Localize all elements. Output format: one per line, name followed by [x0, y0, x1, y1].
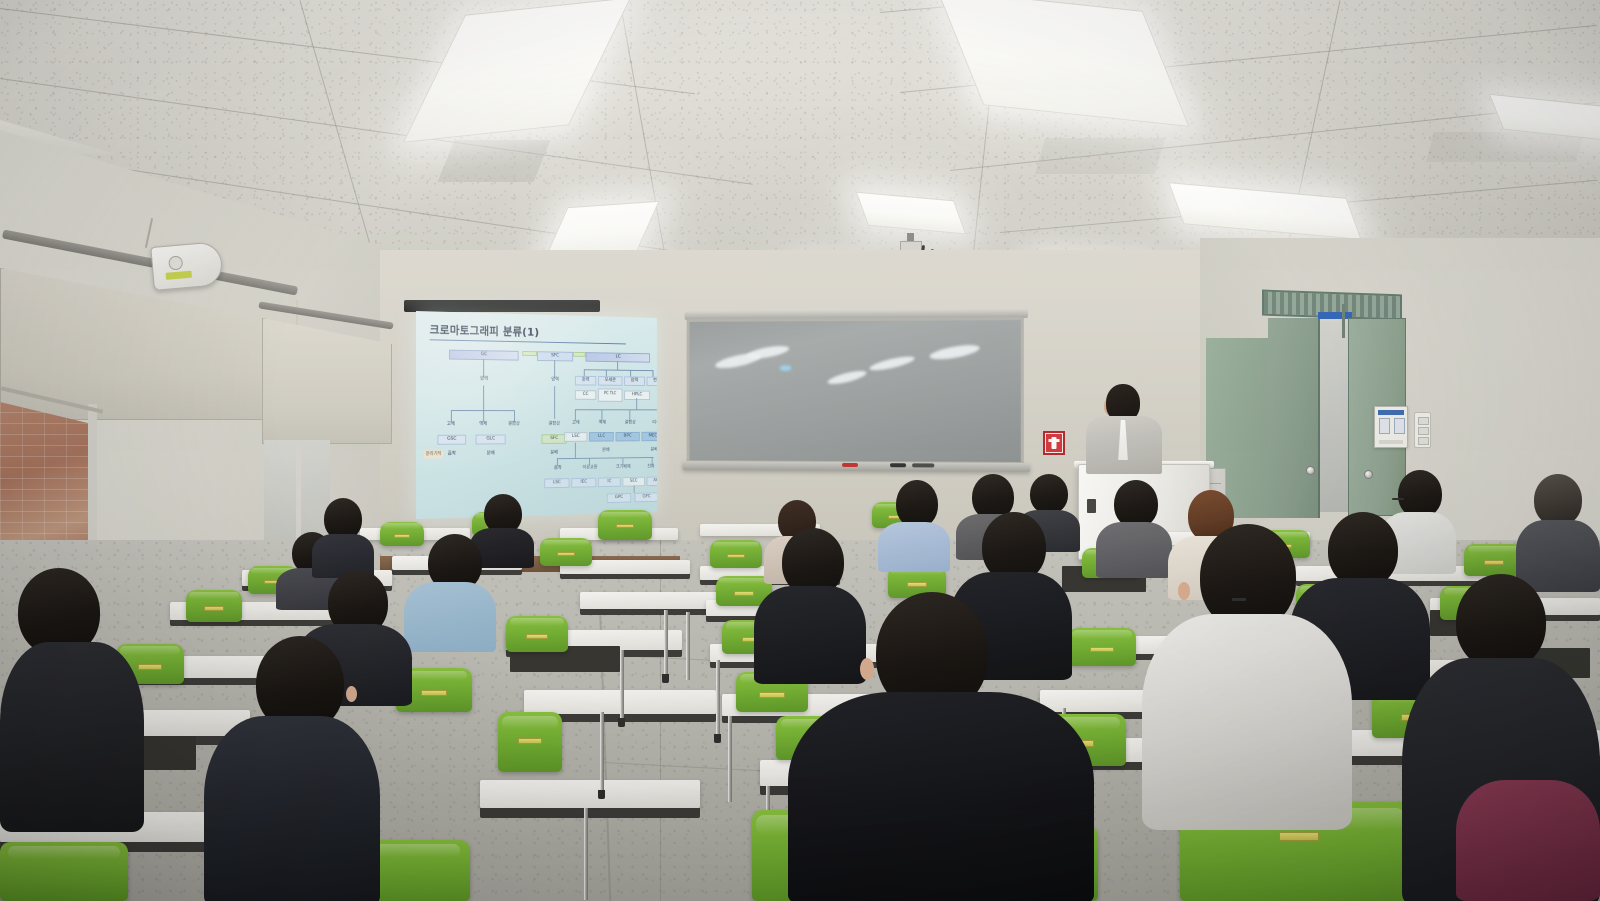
slide-node-lc-phase: 결합상: [617, 420, 643, 427]
slide-node-sub-mech: 친화: [641, 463, 656, 471]
slide-node-ac: AC: [647, 476, 657, 485]
slide-node-sub-mech: 이온교환: [575, 464, 605, 472]
door-closer-arm: [1342, 304, 1345, 338]
screen-housing: [404, 300, 600, 312]
slide-connector: [636, 398, 637, 409]
slide-node-lc-driver: 전기장: [647, 377, 657, 386]
chair[interactable]: [540, 538, 592, 566]
slide-node-bpc: BPC: [615, 432, 639, 441]
fire-extinguisher-sign: [1043, 431, 1065, 455]
slide-connector: [575, 443, 576, 458]
light-reflection: [827, 368, 868, 386]
light-switch[interactable]: [1418, 437, 1429, 445]
slide-node-gc-driver: 압력: [468, 376, 500, 384]
audience-member: [1142, 524, 1352, 824]
control-button[interactable]: [1379, 418, 1390, 434]
slide-node-mecc: MECC: [641, 432, 656, 441]
slide-connector: [575, 409, 657, 410]
desk: [480, 780, 700, 808]
ceiling-stain: [438, 140, 551, 182]
slide-side-label: 분리기작: [424, 450, 445, 459]
chair[interactable]: [506, 616, 568, 652]
audience-member: [0, 568, 144, 830]
slide-node-pc-tlc: PC TLC: [598, 388, 622, 401]
chair[interactable]: [1464, 544, 1524, 576]
door-opening: [1320, 322, 1348, 512]
audience-member: [1456, 780, 1600, 901]
slide-connector: [483, 386, 484, 412]
chair[interactable]: [186, 590, 242, 622]
slide-node-lc-phase: 고체: [566, 420, 586, 427]
door-frame-panel: [1268, 318, 1320, 518]
whiteboard: [687, 317, 1024, 465]
light-switch[interactable]: [1418, 427, 1429, 435]
desk-foot: [662, 674, 669, 683]
slide-node-gc-phase: 결합상: [500, 421, 528, 429]
desk-foot: [714, 734, 721, 743]
slide-node-llc: LLC: [589, 432, 614, 441]
slide-node-gc-phase: 액체: [472, 421, 495, 429]
slide-node-gsc: GSC: [437, 435, 466, 445]
slide-node-cc: CC: [575, 390, 596, 399]
slide-node-divider: [522, 351, 537, 356]
slide-node-gc-mech: 분배: [478, 450, 504, 458]
slide-node-divider: [573, 352, 585, 357]
slide-content: 크로마토그래피 분류(1) GC SFC LC 압력 고체 액체 결합상 GSC…: [416, 311, 657, 519]
instructor: [1084, 384, 1164, 474]
desk-leg: [728, 716, 732, 802]
slide-node-gfc: GFC: [635, 492, 657, 502]
slide-connector: [483, 359, 484, 377]
slide-node-lc-driver: 모세관: [598, 376, 622, 385]
slide-node-glc: GLC: [476, 434, 506, 444]
light-switch[interactable]: [1418, 417, 1429, 425]
slide-node-lc-phase: 미셀: [647, 420, 657, 427]
audience-member: [204, 636, 380, 901]
red-marker[interactable]: [842, 463, 858, 467]
speaker-label: [166, 271, 193, 280]
whiteboard-assembly: [687, 317, 1024, 465]
slide-connector: [584, 369, 654, 371]
classroom-photo: 크로마토그래피 분류(1) GC SFC LC 압력 고체 액체 결합상 GSC…: [0, 0, 1600, 901]
slide-node-sub-mech: 크기배제: [609, 464, 639, 472]
desk-leg: [664, 610, 668, 676]
slide-connector: [634, 485, 635, 493]
audience-member: [404, 534, 496, 644]
slide-node-gc-phase: 고체: [439, 421, 462, 429]
slide-node-sub-mech: 흡착: [548, 465, 568, 473]
desk-foot: [618, 718, 625, 727]
ceiling-stain: [1426, 132, 1583, 162]
chair[interactable]: [498, 712, 562, 772]
desk-leg: [584, 808, 588, 900]
slide-node-lc-driver: 중력: [575, 376, 596, 386]
av-control-panel[interactable]: [1374, 406, 1408, 448]
projection-screen: 크로마토그래피 분류(1) GC SFC LC 압력 고체 액체 결합상 GSC…: [416, 311, 657, 519]
control-panel-footer: [1379, 440, 1403, 444]
light-reflection: [780, 365, 792, 371]
door-knob[interactable]: [1364, 470, 1373, 479]
chair[interactable]: [598, 510, 652, 540]
chair[interactable]: [0, 842, 128, 901]
slide-node-sfc-phase: 결합상: [540, 421, 569, 429]
slide-node-ic: IC: [598, 477, 621, 487]
desk-foot: [598, 790, 605, 799]
slide-node-sfc-mech: 분배: [542, 449, 567, 457]
speaker-knob[interactable]: [168, 255, 183, 270]
desk-leg: [716, 660, 720, 736]
slide-node-sub-lsc: LSC: [544, 478, 569, 488]
control-panel-header: [1378, 410, 1404, 415]
control-button[interactable]: [1394, 418, 1405, 434]
audience-member: [788, 592, 1094, 901]
black-marker[interactable]: [890, 463, 906, 467]
eyeglasses: [1232, 598, 1246, 601]
light-reflection: [746, 343, 790, 360]
eyeglasses: [1392, 498, 1404, 500]
eraser[interactable]: [912, 463, 934, 467]
slide-connector: [557, 457, 653, 459]
audience-member: [878, 480, 950, 566]
slide-node-lc-driver: 압력: [624, 376, 645, 385]
light-reflection: [869, 354, 916, 373]
slide-node-lc-phase: 액체: [593, 420, 612, 427]
fire-extinguisher-icon: [1046, 434, 1062, 452]
door-knob[interactable]: [1306, 466, 1315, 475]
door-sign: [1318, 312, 1352, 319]
desk-leg: [620, 650, 624, 720]
slide-node-lsc: LSC: [564, 432, 587, 441]
podium-panel: [1087, 499, 1096, 513]
slide-node-lc-mech: 분배: [594, 447, 617, 455]
light-switch-plate[interactable]: [1414, 412, 1431, 448]
desk-leg: [686, 612, 690, 680]
audience-member: [312, 498, 374, 570]
slide-connector: [554, 360, 555, 377]
slide-node-iec: IEC: [571, 478, 596, 488]
audience-member: [1516, 474, 1600, 586]
slide-node-lc-mech: 분배: [643, 447, 657, 454]
slide-title: 크로마토그래피 분류(1): [430, 321, 647, 342]
slide-node-sfc-method: SFC: [542, 434, 567, 444]
ceiling-stain: [1035, 138, 1165, 174]
slide-connector: [554, 386, 555, 419]
slide-node-sfc-driver: 압력: [540, 376, 571, 384]
slide-node-gpc: GPC: [607, 493, 631, 503]
desk-leg: [600, 712, 604, 792]
light-reflection: [929, 342, 981, 362]
